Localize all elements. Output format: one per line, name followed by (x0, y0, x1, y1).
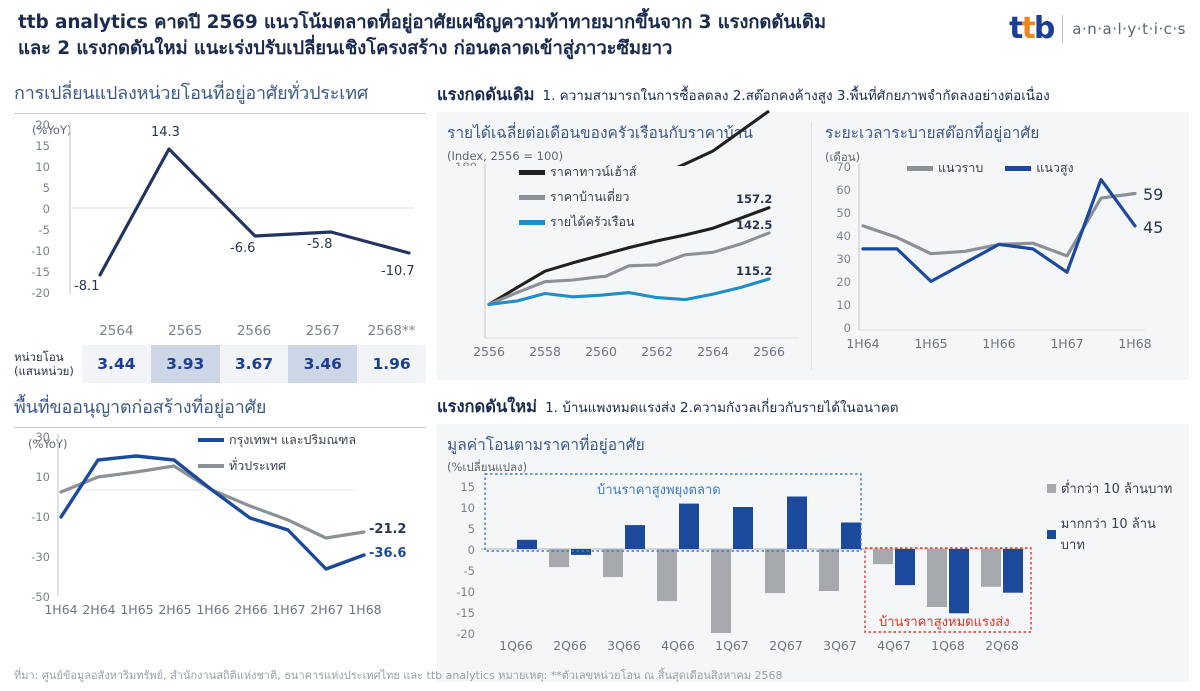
xtick: 2Q68 (975, 638, 1029, 653)
logo-divider (1062, 15, 1063, 43)
ttb-analytics-logo: ttb a·n·a·l·y·t·i·c·s (1009, 14, 1186, 44)
legend-item: ราคาทาวน์เฮ้าส์ (519, 162, 637, 182)
legend-item: แนวสูง (1005, 158, 1073, 178)
transfer-value-legend: ต่ำกว่า 10 ล้านบาท มากกว่า 10 ล้านบาท (1047, 478, 1177, 555)
logo-letter-t2: t (1021, 11, 1033, 46)
page-title: ttb analytics คาดปี 2569 แนวโน้มตลาดที่อ… (18, 10, 998, 63)
permit-area-line-chart: 30 10 -10 -30 -50 -21.2 -36.6 1H64 2H64 … (14, 436, 426, 626)
legend-label: ราคาทาวน์เฮ้าส์ (550, 162, 637, 182)
divider (14, 113, 426, 114)
legend-label: มากกว่า 10 ล้านบาท (1061, 513, 1177, 555)
legend-label: ต่ำกว่า 10 ล้านบาท (1061, 478, 1172, 499)
page-header: ttb analytics คาดปี 2569 แนวโน้มตลาดที่อ… (0, 0, 1200, 70)
xtick: 4Q67 (867, 638, 921, 653)
table-header-cell: 2568** (357, 323, 426, 345)
ttb-logo-mark: ttb (1009, 14, 1053, 44)
table-header-cell: 2567 (288, 323, 357, 345)
transfer-value-bar-chart: 15 10 5 0 -5 -10 -15 -20 (447, 486, 1177, 676)
data-label-high-rise: 45 (1143, 218, 1163, 237)
stock-time-line-chart: 70 60 50 40 30 20 10 0 แ (825, 166, 1181, 366)
xtick: 2560 (577, 344, 625, 359)
xtick: 1Q67 (705, 638, 759, 653)
table-header-spacer (14, 323, 82, 345)
xtick: 1H67 (1043, 336, 1091, 351)
data-label-nationwide: -21.2 (369, 522, 406, 537)
panel-permit-area-title: พื้นที่ขออนุญาตก่อสร้างที่อยู่อาศัย (14, 392, 426, 421)
section-subheading: 1. บ้านแพงหมดแรงส่ง 2.ความกังวลเกี่ยวกับ… (545, 396, 898, 418)
table-cell: 1.96 (357, 345, 426, 383)
section-old-pressure-header: แรงกดดันเดิม 1. ความสามารถในการซื้อลดลง … (437, 82, 1189, 108)
data-label: -10.7 (381, 264, 415, 279)
table-header-cell: 2564 (82, 323, 151, 345)
permit-area-plot (14, 436, 426, 611)
table-row-label-line1: หน่วยโอน (14, 350, 82, 364)
xtick: 3Q66 (597, 638, 651, 653)
xtick: 1H66 (975, 336, 1023, 351)
legend-label: ราคาบ้านเดี่ยว (550, 187, 629, 207)
section-new-pressure: แรงกดดันใหม่ 1. บ้านแพงหมดแรงส่ง 2.ความก… (437, 394, 1189, 682)
xtick: 2Q66 (543, 638, 597, 653)
transfer-units-table: 2564 2565 2566 2567 2568** หน่วยโอน (แสน… (14, 323, 426, 383)
section-new-pressure-body: มูลค่าโอนตามราคาที่อยู่อาศัย (%เปลี่ยนแป… (437, 424, 1189, 682)
logo-analytics-word: a·n·a·l·y·t·i·c·s (1072, 20, 1186, 38)
data-label-townhouse: 157.2 (736, 192, 772, 206)
table-header-cell: 2566 (220, 323, 289, 345)
income-price-line-chart: 180 160 140 120 100 80 (447, 166, 807, 366)
xtick: 2556 (465, 344, 513, 359)
data-label: 14.3 (151, 125, 180, 140)
section-heading: แรงกดดันเดิม (437, 82, 535, 108)
data-label: -6.6 (230, 241, 255, 256)
panel-transfer-value: มูลค่าโอนตามราคาที่อยู่อาศัย (%เปลี่ยนแป… (447, 432, 645, 477)
legend-swatch-below-10m-icon (1047, 484, 1056, 493)
legend-label: แนวราบ (938, 158, 983, 178)
table-header-cell: 2565 (151, 323, 220, 345)
annotation-high-price-supports-market: บ้านราคาสูงพยุงตลาด (597, 479, 721, 500)
xtick: 1H68 (340, 602, 390, 617)
legend-swatch-high-rise-icon (1005, 166, 1031, 171)
xtick: 1H65 (907, 336, 955, 351)
divider (14, 427, 426, 428)
section-new-pressure-header: แรงกดดันใหม่ 1. บ้านแพงหมดแรงส่ง 2.ความก… (437, 394, 1189, 420)
xtick: 2562 (633, 344, 681, 359)
page-title-line2: และ 2 แรงกดดันใหม่ แนะเร่งปรับเปลี่ยนเชิ… (18, 36, 998, 62)
xtick: 2558 (521, 344, 569, 359)
legend-item: รายได้ครัวเรือน (519, 212, 637, 232)
panel-transfer-value-title: มูลค่าโอนตามราคาที่อยู่อาศัย (447, 432, 645, 457)
table-header-row: 2564 2565 2566 2567 2568** (14, 323, 426, 345)
panel-stock-time: ระยะเวลาระบายสต๊อกที่อยู่อาศัย (เดือน) 7… (825, 120, 1181, 167)
panel-divider (811, 122, 812, 370)
table-cell: 3.46 (288, 345, 357, 383)
annotation-high-price-loses-momentum: บ้านราคาสูงหมดแรงส่ง (879, 611, 1010, 632)
section-old-pressure: แรงกดดันเดิม 1. ความสามารถในการซื้อลดลง … (437, 82, 1189, 380)
logo-letter-t1: t (1009, 11, 1021, 46)
panel-income-price: รายได้เฉลี่ยต่อเดือนของครัวเรือนกับราคาบ… (447, 120, 807, 163)
legend-swatch-income-icon (519, 220, 545, 225)
panel-transfer-units-title: การเปลี่ยนแปลงหน่วยโอนที่อยู่อาศัยทั่วปร… (14, 78, 426, 107)
legend-item: ราคาบ้านเดี่ยว (519, 187, 637, 207)
table-cell: 3.93 (151, 345, 220, 383)
table-row-label: หน่วยโอน (แสนหน่วย) (14, 345, 82, 383)
legend-swatch-above-10m-icon (1047, 530, 1056, 539)
xtick: 1H64 (839, 336, 887, 351)
legend-item: แนวราบ (907, 158, 983, 178)
xtick: 3Q67 (813, 638, 867, 653)
xtick: 1Q66 (489, 638, 543, 653)
xtick: 4Q66 (651, 638, 705, 653)
axis-unit-index: (Index, 2556 = 100) (447, 149, 807, 163)
data-label-income: 115.2 (736, 264, 772, 278)
source-footnote: ที่มา: ศูนย์ข้อมูลอสังหาริมทรัพย์, สำนัก… (14, 666, 1184, 684)
legend-label: แนวสูง (1036, 158, 1073, 178)
legend-swatch-detached-icon (519, 195, 545, 200)
page-title-line1: ttb analytics คาดปี 2569 แนวโน้มตลาดที่อ… (18, 10, 998, 36)
data-label-detached: 142.5 (736, 218, 772, 232)
data-label: -5.8 (307, 237, 332, 252)
panel-permit-area: พื้นที่ขออนุญาตก่อสร้างที่อยู่อาศัย (%Yo… (14, 392, 426, 657)
stock-time-plot (825, 166, 1181, 346)
data-label-bangkok: -36.6 (369, 546, 406, 561)
income-price-legend: ราคาทาวน์เฮ้าส์ ราคาบ้านเดี่ยว รายได้ครั… (519, 162, 637, 232)
table-cell: 3.67 (220, 345, 289, 383)
legend-item: มากกว่า 10 ล้านบาท (1047, 513, 1177, 555)
panel-transfer-units: การเปลี่ยนแปลงหน่วยโอนที่อยู่อาศัยทั่วปร… (14, 78, 426, 378)
logo-letter-b: b (1034, 11, 1053, 46)
table-row: หน่วยโอน (แสนหน่วย) 3.44 3.93 3.67 3.46 … (14, 345, 426, 383)
xtick: 1H68 (1111, 336, 1159, 351)
xtick: 2Q67 (759, 638, 813, 653)
section-subheading: 1. ความสามารถในการซื้อลดลง 2.สต๊อกคงค้าง… (543, 84, 1050, 106)
section-heading: แรงกดดันใหม่ (437, 394, 537, 420)
legend-swatch-townhouse-icon (519, 170, 545, 175)
table-cell: 3.44 (82, 345, 151, 383)
panel-stock-time-title: ระยะเวลาระบายสต๊อกที่อยู่อาศัย (825, 120, 1181, 145)
legend-label: รายได้ครัวเรือน (550, 212, 635, 232)
data-label-low-rise: 59 (1143, 185, 1163, 204)
legend-swatch-low-rise-icon (907, 166, 933, 171)
data-label: -8.1 (74, 279, 99, 294)
transfer-units-line-chart: 20 15 10 5 0 -5 -10 -15 -20 -8.1 14.3 -6… (14, 122, 426, 322)
table-row-label-line2: (แสนหน่วย) (14, 364, 82, 378)
stock-time-legend: แนวราบ แนวสูง (907, 158, 1074, 178)
xtick: 2566 (745, 344, 793, 359)
legend-item: ต่ำกว่า 10 ล้านบาท (1047, 478, 1177, 499)
xtick: 2564 (689, 344, 737, 359)
section-old-pressure-body: รายได้เฉลี่ยต่อเดือนของครัวเรือนกับราคาบ… (437, 112, 1189, 380)
xtick: 1Q68 (921, 638, 975, 653)
